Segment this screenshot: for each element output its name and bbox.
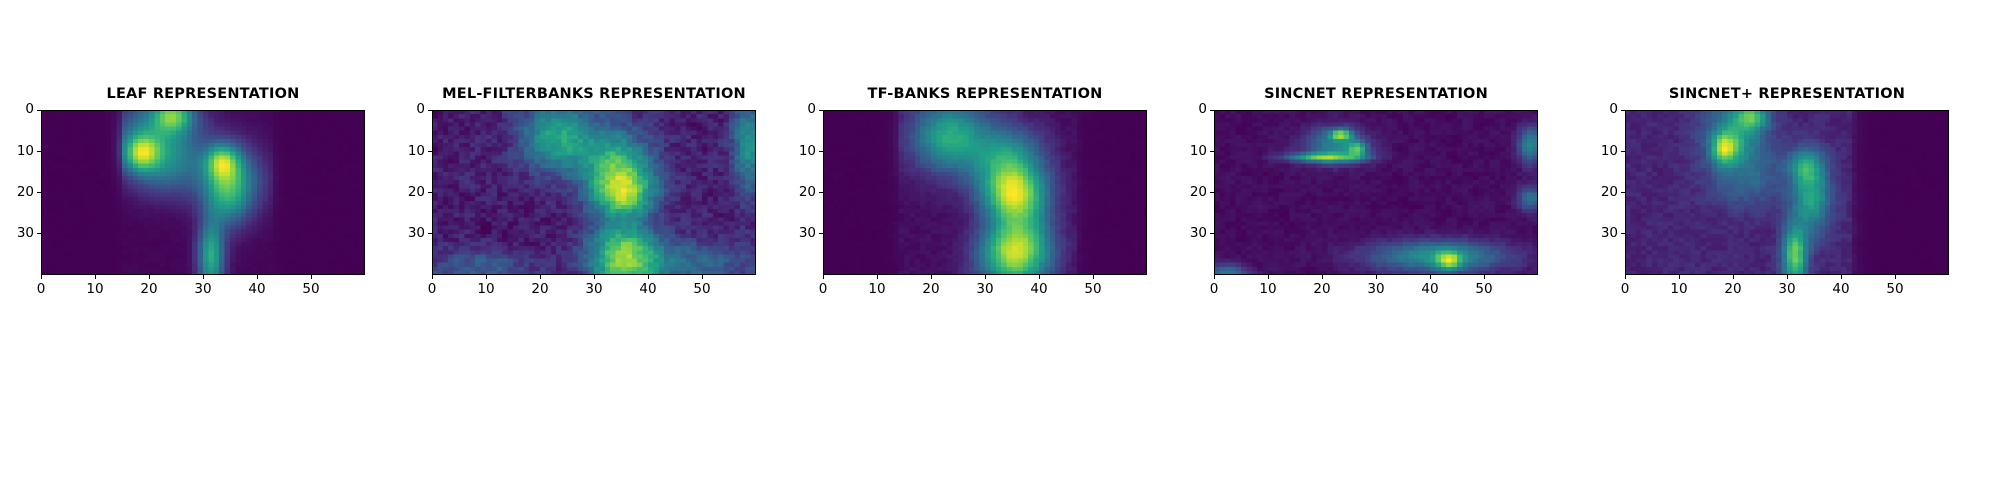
subplot-leaf: LEAF REPRESENTATION010203001020304050 — [41, 110, 365, 275]
x-tick-label: 30 — [194, 283, 211, 297]
x-tick-mark — [1484, 275, 1485, 279]
x-tick-label: 10 — [477, 283, 494, 297]
x-tick-label: 50 — [1886, 283, 1903, 297]
x-tick-label: 0 — [819, 283, 828, 297]
subplot-sincnet: SINCNET REPRESENTATION010203001020304050 — [1214, 110, 1538, 275]
axis-spine-left — [1214, 110, 1215, 275]
y-tick-mark — [428, 233, 432, 234]
heatmap-canvas-sincnet-plus — [1625, 110, 1949, 275]
figure-canvas: LEAF REPRESENTATION010203001020304050MEL… — [0, 0, 2000, 500]
x-tick-label: 20 — [1724, 283, 1741, 297]
x-tick-mark — [823, 275, 824, 279]
subplot-title-sincnet: SINCNET REPRESENTATION — [1214, 86, 1538, 102]
x-tick-mark — [931, 275, 932, 279]
x-tick-label: 40 — [1421, 283, 1438, 297]
y-tick-mark — [1621, 151, 1625, 152]
x-tick-mark — [648, 275, 649, 279]
y-tick-label: 10 — [1190, 145, 1207, 159]
x-tick-label: 0 — [428, 283, 437, 297]
x-tick-label: 50 — [1475, 283, 1492, 297]
heatmap-image-sincnet-plus — [1625, 110, 1949, 275]
heatmap-canvas-leaf — [41, 110, 365, 275]
y-tick-label: 30 — [1601, 227, 1618, 241]
x-tick-mark — [1430, 275, 1431, 279]
y-tick-label: 20 — [408, 186, 425, 200]
y-tick-mark — [37, 151, 41, 152]
axis-spine-left — [41, 110, 42, 275]
x-tick-mark — [486, 275, 487, 279]
y-tick-mark — [1210, 110, 1214, 111]
x-tick-mark — [540, 275, 541, 279]
y-tick-label: 30 — [408, 227, 425, 241]
y-tick-label: 10 — [799, 145, 816, 159]
y-tick-mark — [1621, 110, 1625, 111]
y-tick-mark — [1210, 192, 1214, 193]
y-tick-mark — [819, 192, 823, 193]
y-tick-mark — [819, 233, 823, 234]
x-tick-label: 50 — [302, 283, 319, 297]
x-tick-mark — [877, 275, 878, 279]
y-tick-mark — [37, 192, 41, 193]
y-tick-label: 0 — [1609, 103, 1618, 117]
x-tick-mark — [311, 275, 312, 279]
x-tick-mark — [1841, 275, 1842, 279]
x-tick-label: 20 — [140, 283, 157, 297]
x-tick-label: 50 — [1084, 283, 1101, 297]
axis-spine-top — [1625, 110, 1949, 111]
y-tick-label: 20 — [1190, 186, 1207, 200]
x-tick-label: 40 — [248, 283, 265, 297]
x-tick-mark — [1376, 275, 1377, 279]
x-tick-label: 10 — [1259, 283, 1276, 297]
axis-spine-right — [364, 110, 365, 275]
x-tick-label: 0 — [1621, 283, 1630, 297]
y-tick-mark — [819, 151, 823, 152]
x-tick-mark — [1093, 275, 1094, 279]
y-tick-label: 30 — [799, 227, 816, 241]
y-tick-mark — [1210, 151, 1214, 152]
x-tick-mark — [985, 275, 986, 279]
axis-spine-right — [1537, 110, 1538, 275]
heatmap-canvas-tf-banks — [823, 110, 1147, 275]
axis-spine-right — [1948, 110, 1949, 275]
x-tick-mark — [432, 275, 433, 279]
y-tick-mark — [37, 233, 41, 234]
heatmap-canvas-sincnet — [1214, 110, 1538, 275]
axis-spine-left — [432, 110, 433, 275]
x-tick-label: 30 — [976, 283, 993, 297]
y-tick-label: 20 — [17, 186, 34, 200]
y-tick-label: 0 — [1198, 103, 1207, 117]
y-tick-mark — [428, 151, 432, 152]
y-tick-mark — [1621, 192, 1625, 193]
heatmap-image-leaf — [41, 110, 365, 275]
axis-spine-top — [823, 110, 1147, 111]
x-tick-mark — [702, 275, 703, 279]
x-tick-label: 0 — [37, 283, 46, 297]
axis-spine-right — [755, 110, 756, 275]
y-tick-mark — [428, 110, 432, 111]
x-tick-label: 40 — [639, 283, 656, 297]
x-tick-label: 50 — [693, 283, 710, 297]
x-tick-mark — [1322, 275, 1323, 279]
x-tick-label: 20 — [922, 283, 939, 297]
x-tick-mark — [1625, 275, 1626, 279]
y-tick-mark — [37, 110, 41, 111]
x-tick-label: 20 — [531, 283, 548, 297]
x-tick-mark — [95, 275, 96, 279]
x-tick-label: 10 — [86, 283, 103, 297]
axis-spine-left — [823, 110, 824, 275]
heatmap-image-mel-filterbanks — [432, 110, 756, 275]
x-tick-mark — [1787, 275, 1788, 279]
x-tick-label: 10 — [868, 283, 885, 297]
x-tick-mark — [1895, 275, 1896, 279]
heatmap-image-tf-banks — [823, 110, 1147, 275]
x-tick-mark — [1039, 275, 1040, 279]
axis-spine-right — [1146, 110, 1147, 275]
y-tick-label: 0 — [416, 103, 425, 117]
y-tick-label: 20 — [1601, 186, 1618, 200]
x-tick-mark — [203, 275, 204, 279]
x-tick-label: 20 — [1313, 283, 1330, 297]
x-tick-mark — [257, 275, 258, 279]
y-tick-label: 10 — [17, 145, 34, 159]
subplot-tf-banks: TF-BANKS REPRESENTATION01020300102030405… — [823, 110, 1147, 275]
axis-spine-top — [41, 110, 365, 111]
y-tick-label: 10 — [408, 145, 425, 159]
x-tick-label: 30 — [1367, 283, 1384, 297]
y-tick-mark — [1621, 233, 1625, 234]
y-tick-label: 30 — [17, 227, 34, 241]
x-tick-mark — [149, 275, 150, 279]
x-tick-label: 30 — [1778, 283, 1795, 297]
subplot-title-mel-filterbanks: MEL-FILTERBANKS REPRESENTATION — [432, 86, 756, 102]
subplot-sincnet-plus: SINCNET+ REPRESENTATION01020300102030405… — [1625, 110, 1949, 275]
subplot-title-sincnet-plus: SINCNET+ REPRESENTATION — [1625, 86, 1949, 102]
y-tick-label: 10 — [1601, 145, 1618, 159]
x-tick-label: 30 — [585, 283, 602, 297]
heatmap-image-sincnet — [1214, 110, 1538, 275]
x-tick-label: 40 — [1030, 283, 1047, 297]
x-tick-mark — [1268, 275, 1269, 279]
x-tick-label: 0 — [1210, 283, 1219, 297]
x-tick-mark — [41, 275, 42, 279]
y-tick-label: 0 — [25, 103, 34, 117]
subplot-title-tf-banks: TF-BANKS REPRESENTATION — [823, 86, 1147, 102]
axis-spine-left — [1625, 110, 1626, 275]
heatmap-canvas-mel-filterbanks — [432, 110, 756, 275]
y-tick-mark — [428, 192, 432, 193]
x-tick-mark — [1679, 275, 1680, 279]
y-tick-label: 0 — [807, 103, 816, 117]
x-tick-label: 10 — [1670, 283, 1687, 297]
axis-spine-top — [432, 110, 756, 111]
x-tick-label: 40 — [1832, 283, 1849, 297]
subplot-mel-filterbanks: MEL-FILTERBANKS REPRESENTATION0102030010… — [432, 110, 756, 275]
x-tick-mark — [1214, 275, 1215, 279]
subplot-title-leaf: LEAF REPRESENTATION — [41, 86, 365, 102]
y-tick-mark — [1210, 233, 1214, 234]
axis-spine-top — [1214, 110, 1538, 111]
y-tick-label: 30 — [1190, 227, 1207, 241]
y-tick-label: 20 — [799, 186, 816, 200]
x-tick-mark — [1733, 275, 1734, 279]
y-tick-mark — [819, 110, 823, 111]
x-tick-mark — [594, 275, 595, 279]
